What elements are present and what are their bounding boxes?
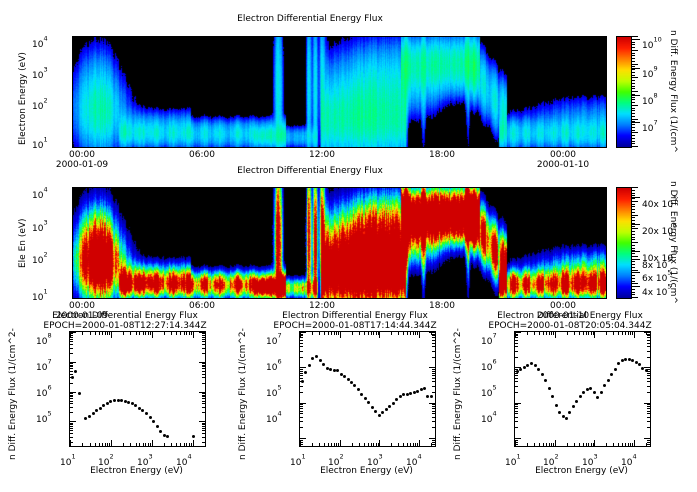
axis-tick — [432, 442, 435, 443]
axis-tick — [647, 408, 650, 409]
axis-tick — [515, 332, 521, 333]
axis-tick — [352, 332, 353, 335]
axis-tick — [647, 340, 650, 341]
axis-tick — [403, 443, 404, 446]
axis-tick — [515, 404, 518, 405]
axis-tick — [410, 332, 411, 335]
spectrum-3-ylabel: n Diff. Energy Flux (1/(cm^2- — [453, 328, 463, 460]
axis-tick — [143, 332, 144, 335]
axis-tick — [184, 443, 185, 446]
axis-tick — [136, 332, 137, 335]
axis-tick — [432, 340, 435, 341]
axis-tick — [70, 383, 73, 384]
axis-tick — [202, 401, 205, 402]
axis-tick — [70, 353, 73, 354]
spectrogram-top-xtick-4: 00:00 — [533, 150, 593, 160]
axis-tick — [376, 443, 377, 446]
axis-tick — [534, 443, 535, 446]
spectrum-1-ytick-7: 107 — [36, 355, 52, 374]
axis-tick — [515, 413, 518, 414]
axis-tick — [634, 332, 635, 338]
axis-tick — [102, 332, 103, 335]
axis-tick — [202, 348, 205, 349]
axis-tick — [647, 406, 650, 407]
data-point — [596, 396, 599, 399]
axis-tick — [70, 374, 73, 375]
data-point — [367, 401, 370, 404]
data-point — [381, 411, 384, 414]
axis-tick — [340, 440, 341, 446]
axis-tick — [429, 367, 435, 368]
data-point — [624, 358, 627, 361]
axis-tick — [70, 423, 73, 424]
axis-tick — [202, 396, 205, 397]
data-point — [582, 391, 585, 394]
axis-tick — [70, 366, 73, 367]
axis-tick — [82, 332, 83, 335]
axis-tick — [202, 333, 205, 334]
axis-tick — [70, 362, 76, 363]
axis-tick — [539, 443, 540, 446]
axis-tick — [551, 332, 552, 335]
axis-tick — [594, 332, 595, 338]
spectrogram-bottom-xtick-0: 00:00 — [52, 301, 112, 311]
axis-tick — [379, 440, 380, 446]
axis-tick — [70, 348, 73, 349]
axis-tick — [300, 369, 303, 370]
axis-tick — [586, 443, 587, 446]
axis-tick — [105, 443, 106, 446]
spectrogram-top-xtick-0: 00:00 — [52, 150, 112, 160]
data-point — [638, 363, 641, 366]
axis-tick — [647, 446, 650, 447]
spectrum-1-ytick-5: 105 — [36, 407, 52, 426]
axis-tick — [70, 377, 73, 378]
axis-tick — [199, 332, 205, 333]
axis-tick — [136, 443, 137, 446]
axis-tick — [70, 335, 73, 336]
data-point — [589, 387, 592, 390]
spectrogram-top-colorbar-label: n Diff. Energy Flux (1/(cm^ — [668, 30, 678, 153]
axis-tick — [123, 332, 124, 335]
axis-tick — [407, 332, 408, 335]
axis-tick — [515, 381, 518, 382]
spectrogram-top-colorbar-label-wrap: n Diff. Energy Flux (1/(cm^ — [678, 30, 697, 40]
data-point — [371, 406, 374, 409]
axis-tick — [398, 332, 399, 335]
axis-tick — [202, 337, 205, 338]
axis-tick — [191, 443, 192, 446]
data-point — [610, 373, 613, 376]
axis-tick — [647, 371, 650, 372]
axis-tick — [391, 443, 392, 446]
axis-tick — [70, 401, 73, 402]
axis-tick — [549, 332, 550, 335]
axis-tick — [300, 392, 303, 393]
axis-tick — [202, 341, 205, 342]
axis-tick — [145, 443, 146, 446]
axis-tick — [300, 351, 303, 352]
axis-tick — [70, 442, 73, 443]
axis-tick — [331, 332, 332, 335]
axis-tick — [70, 393, 73, 394]
axis-tick — [90, 332, 91, 335]
axis-tick — [432, 444, 435, 445]
axis-tick — [432, 335, 435, 336]
axis-tick — [628, 332, 629, 335]
axis-tick — [202, 377, 205, 378]
axis-tick — [376, 332, 377, 335]
axis-tick — [419, 440, 420, 446]
axis-tick — [145, 332, 146, 335]
spectrum-2-ylabel: n Diff. Energy Flux (1/(cm^2- — [238, 328, 248, 460]
data-point — [141, 409, 144, 412]
data-point — [385, 408, 388, 411]
axis-tick — [300, 346, 303, 347]
axis-tick — [415, 443, 416, 446]
axis-tick — [164, 332, 165, 335]
axis-tick — [432, 413, 435, 414]
spectrogram-top-plot[interactable] — [72, 36, 607, 148]
data-point — [124, 400, 127, 403]
axis-tick — [70, 368, 73, 369]
axis-tick — [515, 442, 518, 443]
axis-tick — [647, 343, 650, 344]
data-point — [617, 362, 620, 365]
spectrum-3-xlabel: Electron Energy (eV) — [514, 466, 649, 476]
axis-tick — [534, 332, 535, 335]
axis-tick — [415, 332, 416, 335]
axis-tick — [123, 443, 124, 446]
axis-tick — [328, 332, 329, 335]
axis-tick — [543, 443, 544, 446]
data-point — [192, 435, 195, 438]
axis-tick — [515, 335, 518, 336]
data-point — [138, 407, 141, 410]
axis-tick — [622, 443, 623, 446]
data-point — [149, 416, 152, 419]
axis-tick — [70, 428, 73, 429]
axis-tick — [618, 443, 619, 446]
spectrogram-top-xtick-2: 12:00 — [292, 150, 352, 160]
axis-tick — [591, 332, 592, 335]
axis-tick — [130, 332, 131, 335]
axis-tick — [515, 406, 518, 407]
spectrum-3-ytick-4: 104 — [481, 407, 497, 426]
axis-tick — [567, 443, 568, 446]
axis-tick — [647, 375, 650, 376]
axis-tick — [340, 332, 341, 338]
axis-tick — [371, 332, 372, 335]
axis-tick — [583, 443, 584, 446]
data-point — [329, 368, 332, 371]
axis-tick — [70, 333, 73, 334]
axis-tick — [331, 443, 332, 446]
axis-tick — [359, 332, 360, 335]
axis-tick — [515, 334, 518, 335]
axis-tick — [70, 395, 73, 396]
axis-tick — [515, 369, 518, 370]
axis-tick — [613, 443, 614, 446]
axis-tick — [579, 443, 580, 446]
axis-tick — [95, 443, 96, 446]
axis-tick — [574, 443, 575, 446]
spectrum-1-plot[interactable] — [69, 331, 206, 447]
data-point — [156, 425, 159, 428]
axis-tick — [300, 411, 303, 412]
axis-tick — [432, 343, 435, 344]
spectrogram-bottom-xtick-3: 18:00 — [412, 301, 472, 311]
axis-tick — [105, 332, 106, 335]
axis-tick — [625, 443, 626, 446]
data-point — [120, 399, 123, 402]
axis-tick — [432, 408, 435, 409]
axis-tick — [630, 332, 631, 335]
spectrum-1-ylabel: n Diff. Energy Flux (1/(cm^2- — [8, 328, 18, 460]
data-point — [395, 398, 398, 401]
data-point — [548, 387, 551, 390]
axis-tick — [373, 443, 374, 446]
axis-tick — [312, 332, 313, 335]
data-point — [319, 359, 322, 362]
data-point — [572, 405, 575, 408]
axis-tick — [371, 443, 372, 446]
data-point — [102, 404, 105, 407]
axis-tick — [546, 443, 547, 446]
data-point — [166, 435, 169, 438]
spectrum-2-title: Electron Differential Energy Flux — [240, 311, 470, 321]
axis-tick — [319, 443, 320, 446]
axis-tick — [205, 332, 206, 335]
data-point — [541, 373, 544, 376]
axis-tick — [186, 443, 187, 446]
spectrogram-top-xtick-1: 06:00 — [172, 150, 232, 160]
data-point — [84, 417, 87, 420]
spectrogram-top-cbtick-9: 109 — [642, 62, 658, 81]
data-point — [607, 379, 610, 382]
axis-tick — [70, 421, 76, 422]
axis-tick — [70, 337, 73, 338]
axis-tick — [111, 332, 112, 338]
axis-tick — [334, 332, 335, 335]
axis-tick — [70, 363, 73, 364]
axis-tick — [202, 426, 205, 427]
axis-tick — [588, 332, 589, 335]
axis-tick — [202, 335, 205, 336]
axis-tick — [647, 442, 650, 443]
axis-tick — [324, 332, 325, 335]
axis-tick — [555, 440, 556, 446]
axis-tick — [336, 332, 337, 335]
axis-tick — [647, 427, 650, 428]
axis-tick — [189, 443, 190, 446]
axis-tick — [90, 443, 91, 446]
axis-tick — [202, 383, 205, 384]
data-point — [409, 392, 412, 395]
axis-tick — [193, 332, 194, 338]
axis-tick — [432, 404, 435, 405]
axis-tick — [130, 443, 131, 446]
data-point — [315, 355, 318, 358]
axis-tick — [180, 443, 181, 446]
axis-tick — [202, 430, 205, 431]
spectrogram-top-colorbar — [616, 36, 632, 148]
axis-tick — [202, 398, 205, 399]
axis-tick — [647, 440, 650, 441]
axis-tick — [300, 440, 303, 441]
data-point — [575, 400, 578, 403]
axis-tick — [300, 332, 306, 333]
axis-tick — [300, 378, 303, 379]
axis-tick — [152, 332, 153, 338]
axis-tick — [410, 443, 411, 446]
axis-tick — [618, 332, 619, 335]
axis-tick — [99, 332, 100, 335]
axis-tick — [579, 332, 580, 335]
axis-tick — [606, 443, 607, 446]
axis-tick — [300, 421, 303, 422]
data-point — [109, 400, 112, 403]
axis-tick — [328, 443, 329, 446]
data-point — [360, 393, 363, 396]
data-point — [534, 364, 537, 367]
axis-tick — [193, 440, 194, 446]
axis-tick — [202, 353, 205, 354]
data-point — [134, 404, 137, 407]
spectrum-3-plot[interactable] — [514, 331, 651, 447]
axis-tick — [647, 369, 650, 370]
axis-tick — [202, 363, 205, 364]
axis-tick — [527, 443, 528, 446]
data-point — [95, 409, 98, 412]
axis-tick — [300, 404, 303, 405]
axis-tick — [515, 440, 518, 441]
spectrogram-bottom-plot[interactable] — [72, 187, 607, 299]
axis-tick — [202, 437, 205, 438]
axis-tick — [364, 332, 365, 335]
axis-tick — [70, 426, 73, 427]
data-point — [579, 395, 582, 398]
axis-tick — [543, 332, 544, 335]
axis-tick — [300, 335, 303, 336]
axis-tick — [107, 443, 108, 446]
data-point — [127, 401, 130, 404]
axis-tick — [300, 381, 303, 382]
axis-tick — [199, 392, 205, 393]
axis-tick — [202, 433, 205, 434]
axis-tick — [432, 346, 435, 347]
spectrogram-top-xtick-3: 18:00 — [412, 150, 472, 160]
axis-tick — [515, 346, 518, 347]
axis-tick — [515, 444, 518, 445]
spectrogram-top-ytick-2: 102 — [32, 94, 48, 113]
axis-tick — [407, 443, 408, 446]
axis-tick — [148, 443, 149, 446]
spectrum-2-plot[interactable] — [299, 331, 436, 447]
spectrogram-top-cbtick-10: 1010 — [642, 33, 662, 52]
axis-tick — [647, 444, 650, 445]
axis-tick — [644, 438, 650, 439]
axis-tick — [334, 443, 335, 446]
spectrogram-bottom-ytick-2: 102 — [32, 248, 48, 267]
axis-tick — [202, 407, 205, 408]
spectrum-3-title: Electron Differential Energy Flux — [455, 311, 685, 321]
axis-tick — [628, 443, 629, 446]
axis-tick — [555, 332, 556, 338]
axis-tick — [594, 440, 595, 446]
axis-tick — [515, 340, 518, 341]
axis-tick — [391, 332, 392, 335]
axis-tick — [186, 332, 187, 335]
data-point — [392, 402, 395, 405]
axis-tick — [202, 368, 205, 369]
axis-tick — [176, 332, 177, 335]
data-point — [544, 379, 547, 382]
axis-tick — [432, 357, 435, 358]
data-point — [614, 368, 617, 371]
axis-tick — [300, 357, 303, 358]
axis-tick — [300, 406, 303, 407]
data-point — [423, 387, 426, 390]
axis-tick — [202, 339, 205, 340]
spectrogram-bottom-colorbar — [616, 187, 632, 299]
axis-tick — [300, 427, 303, 428]
axis-tick — [432, 371, 435, 372]
axis-tick — [319, 332, 320, 335]
axis-tick — [647, 381, 650, 382]
axis-tick — [70, 403, 73, 404]
axis-tick — [95, 332, 96, 335]
spectrogram-bottom-ylabel: Ele En (eV) — [18, 218, 28, 268]
axis-tick — [634, 440, 635, 446]
data-point — [416, 390, 419, 393]
axis-tick — [588, 443, 589, 446]
spectrogram-bottom-xtick-2: 12:00 — [292, 301, 352, 311]
axis-tick — [515, 392, 518, 393]
axis-tick — [300, 386, 303, 387]
axis-tick — [300, 403, 306, 404]
spectrogram-top-cbtick-7: 107 — [642, 116, 658, 135]
data-point — [551, 395, 554, 398]
axis-tick — [202, 365, 205, 366]
axis-tick — [368, 332, 369, 335]
axis-tick — [647, 386, 650, 387]
spectrogram-bottom-xtick-1: 06:00 — [172, 301, 232, 311]
axis-tick — [191, 332, 192, 335]
axis-tick — [515, 351, 518, 352]
axis-tick — [586, 332, 587, 335]
axis-tick — [184, 332, 185, 335]
axis-tick — [111, 440, 112, 446]
axis-tick — [368, 443, 369, 446]
axis-tick — [515, 375, 518, 376]
data-point — [159, 430, 162, 433]
axis-tick — [202, 412, 205, 413]
data-point — [88, 415, 91, 418]
axis-tick — [180, 332, 181, 335]
axis-tick — [539, 332, 540, 335]
data-point — [430, 395, 433, 398]
axis-tick — [336, 443, 337, 446]
axis-tick — [515, 357, 518, 358]
axis-tick — [515, 438, 521, 439]
axis-tick — [300, 343, 303, 344]
axis-tick — [432, 440, 435, 441]
axis-tick — [647, 417, 650, 418]
axis-tick — [352, 443, 353, 446]
axis-tick — [70, 412, 73, 413]
axis-tick — [647, 378, 650, 379]
